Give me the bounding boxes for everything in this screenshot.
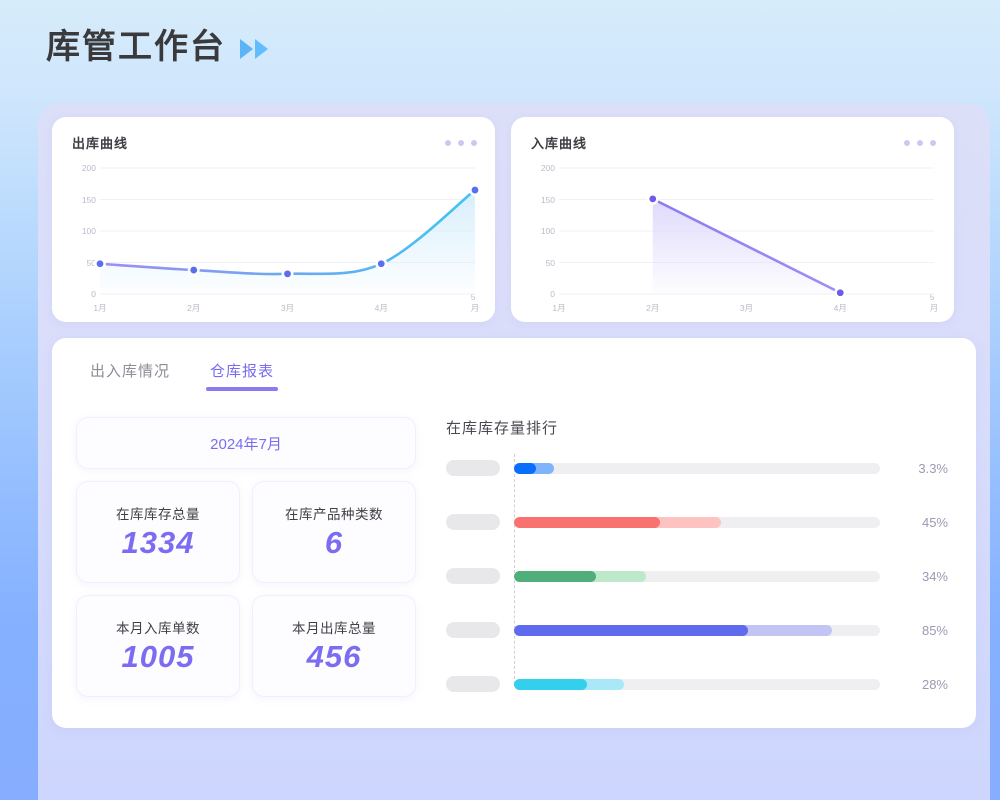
charts-row: 出库曲线 0501001502001月2月3月4月5月 入库曲线 0501001… xyxy=(52,117,976,322)
tab-bar: 出入库情况 仓库报表 xyxy=(76,360,952,391)
ranking-bar-track xyxy=(514,679,880,690)
ranking-list: 3.3%45%34%85%28% xyxy=(446,460,948,692)
ranking-percent-label: 3.3% xyxy=(894,461,948,476)
stat-value: 1334 xyxy=(122,525,195,561)
ranking-bar-fill-dark xyxy=(514,517,660,528)
stat-card-product-types: 在库产品种类数 6 xyxy=(252,481,416,583)
ranking-guide-line xyxy=(514,454,515,684)
ranking-bar-fill-dark xyxy=(514,679,587,690)
outbound-chart-header: 出库曲线 xyxy=(66,133,481,152)
stat-value: 1005 xyxy=(122,639,195,675)
tab-warehouse-report[interactable]: 仓库报表 xyxy=(210,360,274,391)
ranking-item-label-placeholder xyxy=(446,676,500,692)
ranking-row: 28% xyxy=(446,676,948,692)
tab-inout-status[interactable]: 出入库情况 xyxy=(90,360,170,391)
ranking-row: 3.3% xyxy=(446,460,948,476)
stat-value: 6 xyxy=(325,525,343,561)
stat-row-1: 在库库存总量 1334 在库产品种类数 6 xyxy=(76,481,416,583)
ranking-item-label-placeholder xyxy=(446,622,500,638)
ranking-row: 45% xyxy=(446,514,948,530)
ranking-percent-label: 45% xyxy=(894,515,948,530)
ranking-item-label-placeholder xyxy=(446,568,500,584)
main-panel: 出入库情况 仓库报表 2024年7月 在库库存总量 1334 在库产品种类数 6 xyxy=(52,338,976,728)
ranking-bar-track xyxy=(514,571,880,582)
ranking-bar-fill-dark xyxy=(514,625,748,636)
stat-row-2: 本月入库单数 1005 本月出库总量 456 xyxy=(76,595,416,697)
stat-card-total-stock: 在库库存总量 1334 xyxy=(76,481,240,583)
inbound-chart-header: 入库曲线 xyxy=(525,133,940,152)
date-value: 2024年7月 xyxy=(210,433,282,454)
date-selector-card[interactable]: 2024年7月 xyxy=(76,417,416,469)
ranking-item-label-placeholder xyxy=(446,514,500,530)
ranking-item-label-placeholder xyxy=(446,460,500,476)
outbound-chart-title: 出库曲线 xyxy=(72,133,128,152)
triangle-right-icon-1 xyxy=(240,39,253,59)
inbound-plot: 0501001502001月2月3月4月5月 xyxy=(525,160,940,312)
stat-label: 在库产品种类数 xyxy=(285,503,383,523)
stat-card-inbound-orders: 本月入库单数 1005 xyxy=(76,595,240,697)
inbound-chart-title: 入库曲线 xyxy=(531,133,587,152)
triangle-right-icon-2 xyxy=(255,39,268,59)
dashboard-shell: 出库曲线 0501001502001月2月3月4月5月 入库曲线 0501001… xyxy=(38,103,990,800)
double-triangle-right-icon xyxy=(240,39,268,59)
page-title: 库管工作台 xyxy=(46,30,226,64)
stat-value: 456 xyxy=(307,639,362,675)
ranking-column: 在库库存量排行 3.3%45%34%85%28% xyxy=(416,417,952,709)
outbound-plot: 0501001502001月2月3月4月5月 xyxy=(66,160,481,312)
ranking-bar-track xyxy=(514,625,880,636)
stat-card-outbound-total: 本月出库总量 456 xyxy=(252,595,416,697)
ranking-percent-label: 85% xyxy=(894,623,948,638)
inbound-chart-card: 入库曲线 0501001502001月2月3月4月5月 xyxy=(511,117,954,322)
ranking-percent-label: 28% xyxy=(894,677,948,692)
ranking-bar-fill-dark xyxy=(514,463,536,474)
more-dots-icon[interactable] xyxy=(445,140,477,146)
more-dots-icon[interactable] xyxy=(904,140,936,146)
ranking-row: 34% xyxy=(446,568,948,584)
ranking-bar-track xyxy=(514,517,880,528)
ranking-percent-label: 34% xyxy=(894,569,948,584)
outbound-chart-card: 出库曲线 0501001502001月2月3月4月5月 xyxy=(52,117,495,322)
stat-label: 本月出库总量 xyxy=(292,617,376,637)
stats-column: 2024年7月 在库库存总量 1334 在库产品种类数 6 本月入库单数 xyxy=(76,417,416,709)
ranking-title: 在库库存量排行 xyxy=(446,417,948,438)
panel-body: 2024年7月 在库库存总量 1334 在库产品种类数 6 本月入库单数 xyxy=(76,417,952,709)
page-header: 库管工作台 xyxy=(46,30,268,64)
ranking-row: 85% xyxy=(446,622,948,638)
ranking-bar-track xyxy=(514,463,880,474)
ranking-bar-fill-dark xyxy=(514,571,596,582)
stat-label: 在库库存总量 xyxy=(116,503,200,523)
stat-label: 本月入库单数 xyxy=(116,617,200,637)
